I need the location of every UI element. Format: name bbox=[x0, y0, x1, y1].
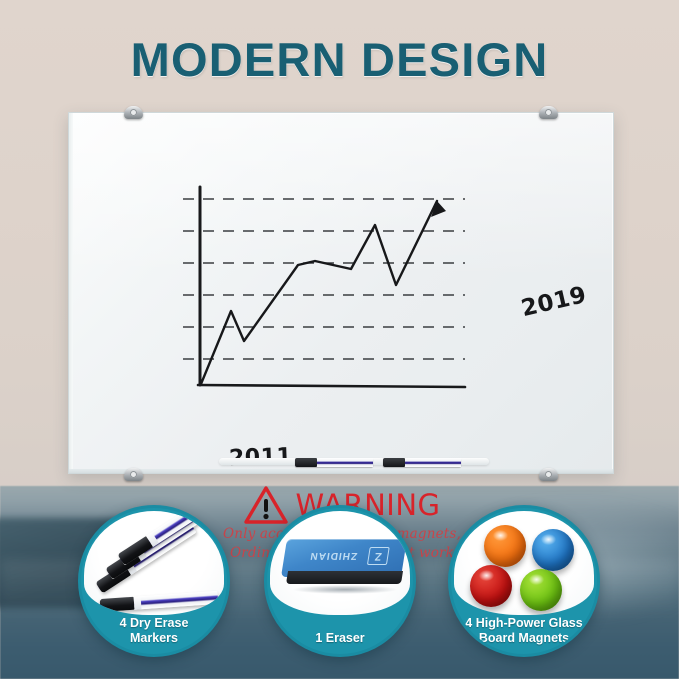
glass-whiteboard: 2011 2019 WARNING Only accept glass boar… bbox=[68, 112, 614, 474]
board-left-edge bbox=[69, 113, 73, 473]
marker-cap bbox=[383, 458, 405, 467]
chart-x-axis bbox=[198, 385, 465, 387]
eraser-item: ZHIDIAN Z bbox=[284, 539, 404, 595]
marker-body bbox=[317, 458, 373, 467]
magnets-photo bbox=[454, 511, 594, 615]
warning-triangle-icon bbox=[244, 485, 288, 525]
eraser-shadow bbox=[292, 585, 398, 594]
eraser-caption: 1 Eraser bbox=[267, 631, 413, 646]
chart-label-end-year: 2019 bbox=[519, 282, 589, 322]
marker-body bbox=[405, 458, 461, 467]
product-circle-magnets: 4 High-Power Glass Board Magnets bbox=[448, 505, 600, 657]
chart-trend-line bbox=[201, 201, 437, 384]
mounting-clip-top-right bbox=[539, 106, 558, 119]
markers-caption: 4 Dry Erase Markers bbox=[81, 616, 227, 646]
magnet-blue bbox=[532, 529, 574, 571]
eraser-brand-text: ZHIDIAN bbox=[294, 550, 374, 561]
marker-item bbox=[100, 591, 219, 612]
magnet-orange bbox=[484, 525, 526, 567]
magnet-green bbox=[520, 569, 562, 611]
magnets-caption: 4 High-Power Glass Board Magnets bbox=[451, 616, 597, 646]
eraser-photo: ZHIDIAN Z bbox=[270, 511, 410, 615]
page-title: MODERN DESIGN bbox=[0, 32, 679, 87]
markers-photo bbox=[84, 511, 224, 615]
board-bottom-edge bbox=[69, 469, 613, 473]
eraser-felt-base bbox=[286, 571, 403, 584]
product-image-stage: MODERN DESIGN bbox=[0, 0, 679, 679]
marker-cap bbox=[295, 458, 317, 467]
magnets-caption-line1: 4 High-Power Glass bbox=[465, 616, 582, 630]
mounting-clip-bottom-right bbox=[539, 468, 558, 481]
tray-marker-1 bbox=[295, 458, 373, 467]
mounting-clip-bottom-left bbox=[124, 468, 143, 481]
tray-marker-2 bbox=[383, 458, 461, 467]
zhidian-logo-icon: Z bbox=[367, 547, 390, 565]
chart-svg bbox=[165, 163, 515, 413]
markers-caption-line1: 4 Dry Erase bbox=[120, 616, 189, 630]
magnets-caption-line2: Board Magnets bbox=[479, 631, 569, 645]
product-circle-eraser: ZHIDIAN Z 1 Eraser bbox=[264, 505, 416, 657]
eraser-caption-line1: 1 Eraser bbox=[315, 631, 364, 645]
mounting-clip-top-left bbox=[124, 106, 143, 119]
hand-drawn-growth-chart bbox=[165, 163, 515, 413]
product-circle-markers: 4 Dry Erase Markers bbox=[78, 505, 230, 657]
chart-gridlines bbox=[183, 199, 465, 359]
magnet-red bbox=[470, 565, 512, 607]
markers-caption-line2: Markers bbox=[130, 631, 178, 645]
